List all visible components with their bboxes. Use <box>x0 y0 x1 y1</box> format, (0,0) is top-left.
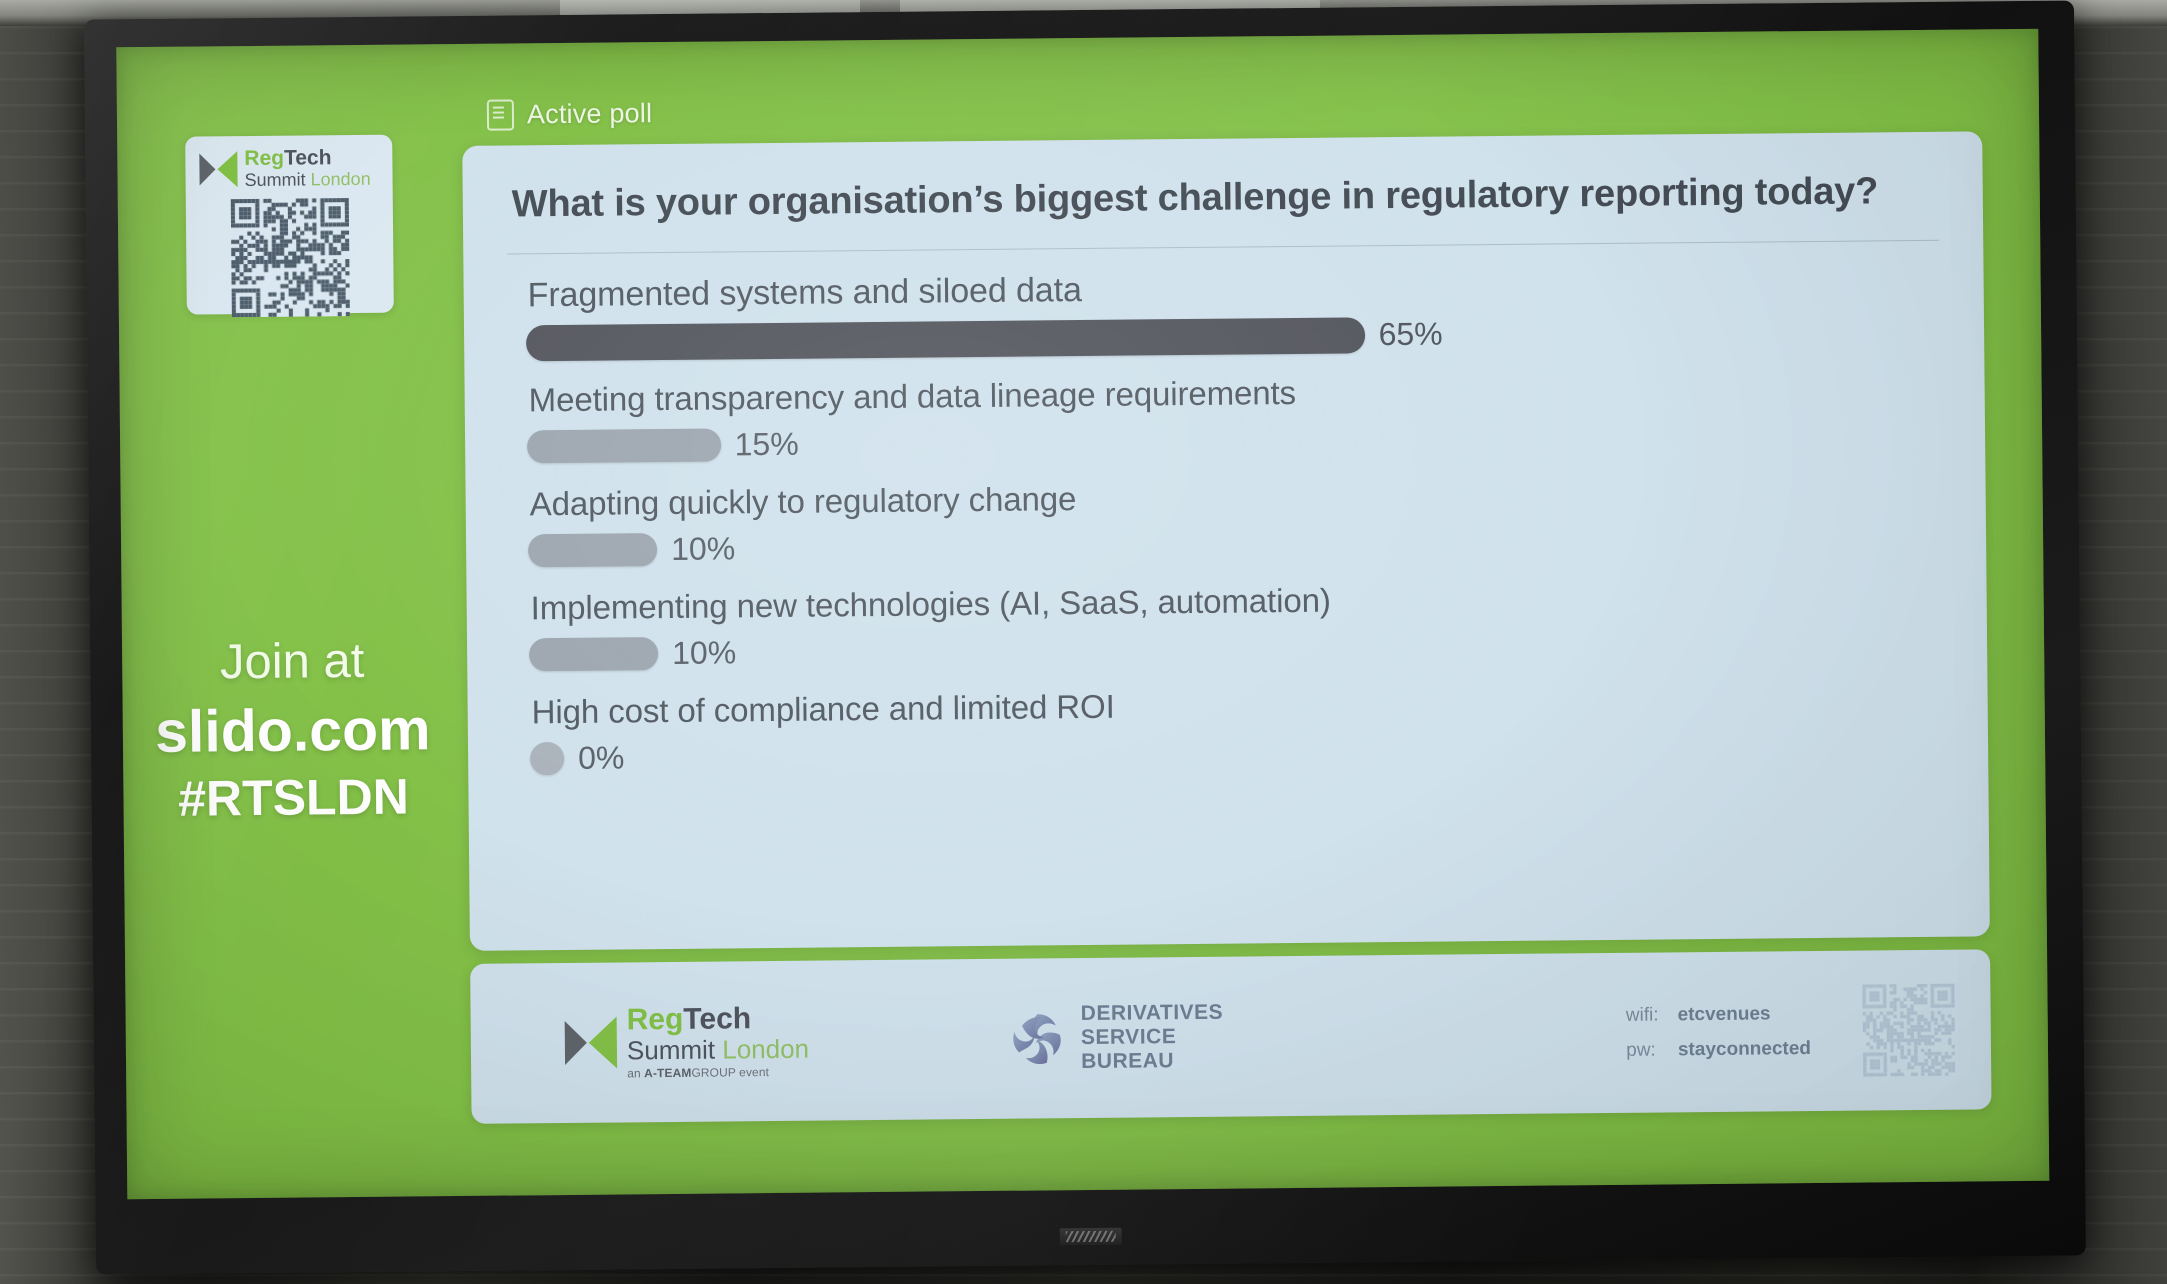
poll-option-bar <box>529 637 658 671</box>
logo-tech: Tech <box>284 146 332 169</box>
active-poll-header: Active poll <box>487 98 653 131</box>
footer-logo-reg: Reg <box>626 1003 683 1037</box>
slide-footer: RegTech Summit London an A-TEAMGROUP eve… <box>470 949 1991 1124</box>
poll-option: Adapting quickly to regulatory change10% <box>510 472 1943 570</box>
wifi-password-label: pw: <box>1625 1033 1675 1067</box>
poll-option-row: 15% <box>509 415 1941 466</box>
sidebar-logo-card: RegTech Summit London <box>185 135 394 315</box>
wifi-ssid-label: wifi: <box>1625 998 1675 1032</box>
join-prefix: Join at <box>122 634 463 691</box>
footer-regtech-logo: RegTech Summit London an A-TEAMGROUP eve… <box>565 1003 810 1080</box>
slide-screen: Active poll RegTech Summit London <box>116 29 2049 1199</box>
wifi-password-row: pw: stayconnected <box>1625 1032 1827 1067</box>
poll-option-label: High cost of compliance and limited ROI <box>512 680 1944 732</box>
poll-option-row: 65% <box>508 311 1940 362</box>
divider <box>507 240 1939 255</box>
poll-options-list: Fragmented systems and siloed data65%Mee… <box>508 263 1945 778</box>
dsb-line2: SERVICE <box>1081 1025 1224 1050</box>
poll-option-row: 10% <box>510 519 1942 570</box>
poll-option-row: 10% <box>511 623 1943 674</box>
wifi-table: wifi: etcvenues pw: stayconnected <box>1623 995 1829 1070</box>
slide-sidebar: RegTech Summit London Join at slido.com … <box>116 44 467 1199</box>
tv-brand-mark-icon <box>1066 1231 1116 1242</box>
footer-logo-tech: Tech <box>683 1002 751 1036</box>
poll-card: What is your organisation’s biggest chal… <box>462 131 1990 951</box>
qr-code-icon[interactable] <box>1862 984 1955 1077</box>
poll-option-percent: 65% <box>1378 316 1442 354</box>
regtech-logo: RegTech Summit London <box>199 147 378 190</box>
poll-option-percent: 10% <box>672 634 736 672</box>
footer-tagline: an A-TEAMGROUP event <box>627 1066 809 1080</box>
qr-code-icon[interactable] <box>230 198 349 317</box>
regtech-triangle-mark-icon <box>199 149 237 189</box>
tagline-group: GROUP <box>691 1065 735 1079</box>
presentation-display: Active poll RegTech Summit London <box>84 0 2086 1274</box>
wifi-ssid-value: etcvenues <box>1676 997 1826 1032</box>
poll-option-bar <box>526 317 1365 361</box>
poll-option-bar <box>528 533 657 567</box>
poll-option-label: Implementing new technologies (AI, SaaS,… <box>511 576 1943 628</box>
poll-question: What is your organisation’s biggest chal… <box>507 170 1939 227</box>
dsb-swirl-logo-icon <box>1009 1009 1068 1068</box>
poll-option-label: Meeting transparency and data lineage re… <box>509 368 1941 420</box>
logo-reg: Reg <box>244 147 284 170</box>
poll-icon <box>487 99 514 130</box>
wifi-password-value: stayconnected <box>1677 1032 1827 1067</box>
regtech-triangle-mark-icon <box>565 1015 618 1071</box>
regtech-logo-text: RegTech Summit London <box>244 147 370 190</box>
poll-option: High cost of compliance and limited ROI0… <box>512 680 1945 778</box>
dsb-logo-text: DERIVATIVES SERVICE BUREAU <box>1081 1001 1224 1074</box>
footer-logo-london: London <box>722 1034 809 1065</box>
tagline-brand: A-TEAM <box>644 1066 691 1080</box>
join-instructions: Join at slido.com #RTSLDN <box>122 634 464 827</box>
poll-option: Fragmented systems and siloed data65% <box>508 263 1941 362</box>
wifi-ssid-row: wifi: etcvenues <box>1625 997 1827 1032</box>
footer-logo-summit: Summit <box>627 1035 723 1066</box>
poll-option-label: Adapting quickly to regulatory change <box>510 472 1942 524</box>
poll-option: Implementing new technologies (AI, SaaS,… <box>511 576 1944 674</box>
logo-london: London <box>310 169 370 190</box>
poll-option-percent: 15% <box>734 426 798 464</box>
dsb-line1: DERIVATIVES <box>1081 1001 1224 1026</box>
dsb-logo: DERIVATIVES SERVICE BUREAU <box>1009 1001 1224 1074</box>
poll-option-bar <box>527 428 721 463</box>
tv-brand-plate <box>1060 1228 1122 1246</box>
poll-option: Meeting transparency and data lineage re… <box>509 368 1942 466</box>
active-poll-label: Active poll <box>527 98 653 130</box>
join-hashtag: #RTSLDN <box>123 768 464 827</box>
tagline-post: event <box>736 1065 769 1079</box>
join-url: slido.com <box>123 696 464 765</box>
poll-option-row: 0% <box>512 727 1944 778</box>
poll-option-bar <box>530 742 564 775</box>
footer-regtech-text: RegTech Summit London an A-TEAMGROUP eve… <box>627 1003 810 1079</box>
poll-option-percent: 10% <box>671 530 735 568</box>
poll-option-label: Fragmented systems and siloed data <box>508 263 1940 316</box>
logo-summit: Summit <box>244 170 310 191</box>
wifi-info: wifi: etcvenues pw: stayconnected <box>1623 984 1956 1079</box>
poll-option-percent: 0% <box>578 739 625 776</box>
dsb-line3: BUREAU <box>1081 1049 1224 1074</box>
tagline-pre: an <box>627 1066 644 1080</box>
